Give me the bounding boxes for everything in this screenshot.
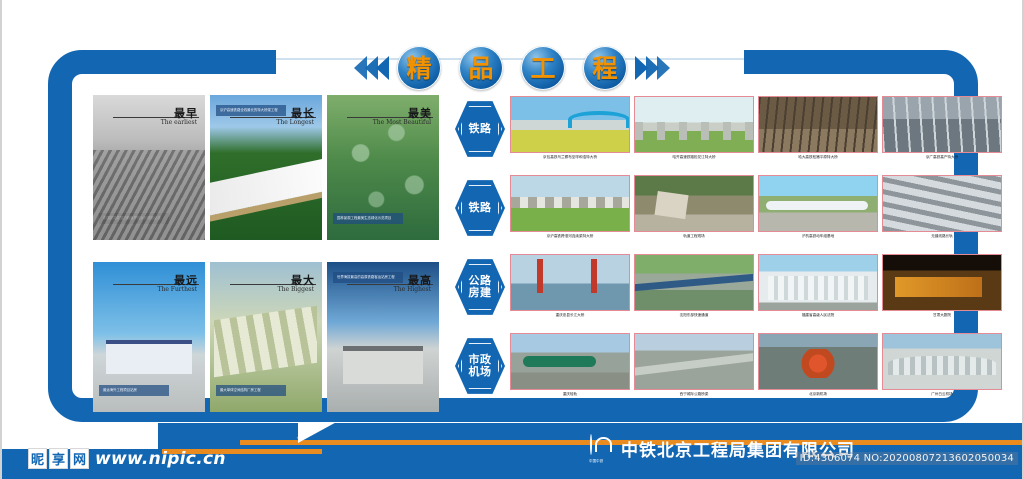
- poster-card: 最远The Furthest最远海外工程项目站房: [93, 262, 205, 412]
- poster-blurb: 中国铁路发展历程最早的京张铁路纪念: [99, 213, 169, 224]
- poster-blurb: 最大单体空间结构厂房工程: [216, 385, 286, 396]
- category-badge[interactable]: 铁路: [455, 100, 505, 158]
- project-cell[interactable]: 广州白云机场: [882, 333, 1002, 396]
- poster-card: 最美The Most Beautiful园林景观工程最美生态绿化示范项目: [327, 95, 439, 240]
- watermark-id: ID:4306074 NO:20200807213602050034: [796, 452, 1018, 465]
- project-caption: 福建省高级人民法院: [758, 313, 878, 317]
- title-char-4: 程: [592, 56, 617, 81]
- project-cell[interactable]: 京沪高铁跨淮河连续梁特大桥: [510, 175, 630, 238]
- poster-title-en: The Biggest: [278, 286, 314, 293]
- project-photo: [758, 96, 878, 153]
- nipic-url: www.nipic.cn: [95, 449, 226, 469]
- project-caption: 广州白云机场: [882, 392, 1002, 396]
- project-photo: [758, 333, 878, 390]
- project-cells: 重庆忠县长江大桥沈阳东部快速通道福建省高级人民法院甘肃大剧院: [510, 254, 1002, 317]
- left-edge: [0, 0, 2, 479]
- category-badge[interactable]: 市政机场: [455, 337, 505, 395]
- project-cell[interactable]: 京包高铁乌兰察布至呼和浩特大桥: [510, 96, 630, 159]
- footer-bar: 中国中铁 中铁北京工程局集团有限公司 昵 享 网 www.nipic.cn ID…: [2, 423, 1022, 479]
- project-cells: 京包高铁乌兰察布至呼和浩特大桥哈齐高速铁路松花江特大桥哈大高铁松嫩平原特大桥京广…: [510, 96, 1002, 159]
- project-caption: 哈大高铁松嫩平原特大桥: [758, 155, 878, 159]
- project-caption: 京沪高铁跨淮河连续梁特大桥: [510, 234, 630, 238]
- logo-disk: [590, 434, 592, 455]
- project-photo: [758, 175, 878, 232]
- chevron-right-icon: [657, 56, 670, 80]
- category-badge[interactable]: 公路房建: [455, 258, 505, 316]
- poster-blurb: 最远海外工程项目站房: [99, 385, 169, 396]
- project-caption: 轨道工程现场: [634, 234, 754, 238]
- project-caption: 沪杭高铁动车组基地: [758, 234, 878, 238]
- project-caption: 重庆轻轨: [510, 392, 630, 396]
- hexagon-inner: 铁路: [459, 183, 501, 233]
- category-badge-line: 机场: [469, 366, 492, 378]
- poster-card: 最长The Longest京沪高速铁路全线最长的特大桥梁工程: [210, 95, 322, 240]
- category-row: 铁路京包高铁乌兰察布至呼和浩特大桥哈齐高速铁路松花江特大桥哈大高铁松嫩平原特大桥…: [455, 96, 975, 175]
- nipic-char-1: 昵: [28, 448, 47, 469]
- project-cell[interactable]: 西宁城际公路桥梁: [634, 333, 754, 396]
- project-caption: 北京新机场: [758, 392, 878, 396]
- nipic-char-3: 网: [70, 448, 89, 469]
- project-photo: [882, 96, 1002, 153]
- footer-notch: [2, 423, 158, 449]
- hexagon-inner: 铁路: [459, 104, 501, 154]
- project-photo: [634, 254, 754, 311]
- project-photo: [510, 96, 630, 153]
- project-cell[interactable]: 无缝线路长轨: [882, 175, 1002, 238]
- title-char-3: 工: [530, 56, 555, 81]
- project-photo: [510, 254, 630, 311]
- category-badge-line: 铁路: [469, 202, 492, 214]
- project-caption: 京广高铁高产特大桥: [882, 155, 1002, 159]
- category-badge-line: 铁路: [469, 123, 492, 135]
- poster-title-cn: 最美: [408, 105, 432, 121]
- poster-blurb: 世界海拔最高的高原铁路客运站房工程: [333, 272, 403, 283]
- project-photo: [634, 333, 754, 390]
- category-row: 铁路京沪高铁跨淮河连续梁特大桥轨道工程现场沪杭高铁动车组基地无缝线路长轨: [455, 175, 975, 254]
- project-photo: [634, 96, 754, 153]
- title-orb-2: 品: [459, 46, 503, 90]
- project-cell[interactable]: 轨道工程现场: [634, 175, 754, 238]
- project-photo: [758, 254, 878, 311]
- logo-caption: 中国中铁: [589, 458, 603, 463]
- project-cells: 重庆轻轨西宁城际公路桥梁北京新机场广州白云机场: [510, 333, 1002, 396]
- poster-blurb: 园林景观工程最美生态绿化示范项目: [333, 213, 403, 224]
- poster-title-en: The earliest: [161, 119, 197, 126]
- project-caption: 重庆忠县长江大桥: [510, 313, 630, 317]
- nipic-char-2: 享: [49, 448, 68, 469]
- project-photo: [882, 175, 1002, 232]
- hexagon-shape: 铁路: [455, 179, 505, 237]
- poster-title-en: The Longest: [276, 119, 314, 126]
- hexagon-inner: 市政机场: [459, 341, 501, 391]
- project-photo: [510, 333, 630, 390]
- poster-card: 最早The earliest中国铁路发展历程最早的京张铁路纪念: [93, 95, 205, 240]
- chevron-left-icon: [365, 56, 378, 80]
- title-char-2: 品: [468, 56, 493, 81]
- poster-board: 精 品 工 程 最早The earliest中国铁路发展历程最早的京张铁路纪念最…: [0, 0, 1024, 479]
- project-cell[interactable]: 哈大高铁松嫩平原特大桥: [758, 96, 878, 159]
- poster-card: 最高The Highest世界海拔最高的高原铁路客运站房工程: [327, 262, 439, 412]
- project-caption: 哈齐高速铁路松花江特大桥: [634, 155, 754, 159]
- poster-blurb: 京沪高速铁路全线最长的特大桥梁工程: [216, 105, 286, 116]
- poster-rule: [347, 117, 433, 118]
- category-rows: 铁路京包高铁乌兰察布至呼和浩特大桥哈齐高速铁路松花江特大桥哈大高铁松嫩平原特大桥…: [455, 96, 975, 412]
- title-orb-4: 程: [583, 46, 627, 90]
- project-caption: 无缝线路长轨: [882, 234, 1002, 238]
- project-caption: 沈阳东部快速通道: [634, 313, 754, 317]
- hexagon-inner: 公路房建: [459, 262, 501, 312]
- project-cell[interactable]: 北京新机场: [758, 333, 878, 396]
- project-photo: [882, 254, 1002, 311]
- project-photo: [510, 175, 630, 232]
- project-cells: 京沪高铁跨淮河连续梁特大桥轨道工程现场沪杭高铁动车组基地无缝线路长轨: [510, 175, 1002, 238]
- title-char-1: 精: [406, 56, 431, 81]
- poster-grid: 最早The earliest中国铁路发展历程最早的京张铁路纪念最长The Lon…: [93, 95, 448, 417]
- hexagon-shape: 市政机场: [455, 337, 505, 395]
- nipic-mark: 昵 享 网: [28, 448, 89, 469]
- poster-title-en: The Furthest: [157, 286, 197, 293]
- project-cell[interactable]: 哈齐高速铁路松花江特大桥: [634, 96, 754, 159]
- category-badge-line: 房建: [469, 287, 492, 299]
- china-railway-logo-icon: 中国中铁: [590, 435, 614, 461]
- title-orb-1: 精: [397, 46, 441, 90]
- project-cell[interactable]: 沪杭高铁动车组基地: [758, 175, 878, 238]
- category-row: 公路房建重庆忠县长江大桥沈阳东部快速通道福建省高级人民法院甘肃大剧院: [455, 254, 975, 333]
- poster-title: 精 品 工 程: [286, 44, 738, 92]
- category-badge[interactable]: 铁路: [455, 179, 505, 237]
- poster-card: 最大The Biggest最大单体空间结构厂房工程: [210, 262, 322, 412]
- poster-title-en: The Highest: [394, 286, 431, 293]
- project-cell[interactable]: 甘肃大剧院: [882, 254, 1002, 317]
- category-row: 市政机场重庆轻轨西宁城际公路桥梁北京新机场广州白云机场: [455, 333, 975, 412]
- hexagon-shape: 铁路: [455, 100, 505, 158]
- project-caption: 甘肃大剧院: [882, 313, 1002, 317]
- nipic-watermark: 昵 享 网 www.nipic.cn: [28, 448, 226, 469]
- project-cell[interactable]: 福建省高级人民法院: [758, 254, 878, 317]
- title-orb-3: 工: [521, 46, 565, 90]
- project-cell[interactable]: 京广高铁高产特大桥: [882, 96, 1002, 159]
- project-cell[interactable]: 沈阳东部快速通道: [634, 254, 754, 317]
- hexagon-shape: 公路房建: [455, 258, 505, 316]
- project-cell[interactable]: 重庆忠县长江大桥: [510, 254, 630, 317]
- project-photo: [882, 333, 1002, 390]
- project-caption: 西宁城际公路桥梁: [634, 392, 754, 396]
- project-photo: [634, 175, 754, 232]
- project-cell[interactable]: 重庆轻轨: [510, 333, 630, 396]
- project-caption: 京包高铁乌兰察布至呼和浩特大桥: [510, 155, 630, 159]
- poster-title-en: The Most Beautiful: [373, 119, 431, 126]
